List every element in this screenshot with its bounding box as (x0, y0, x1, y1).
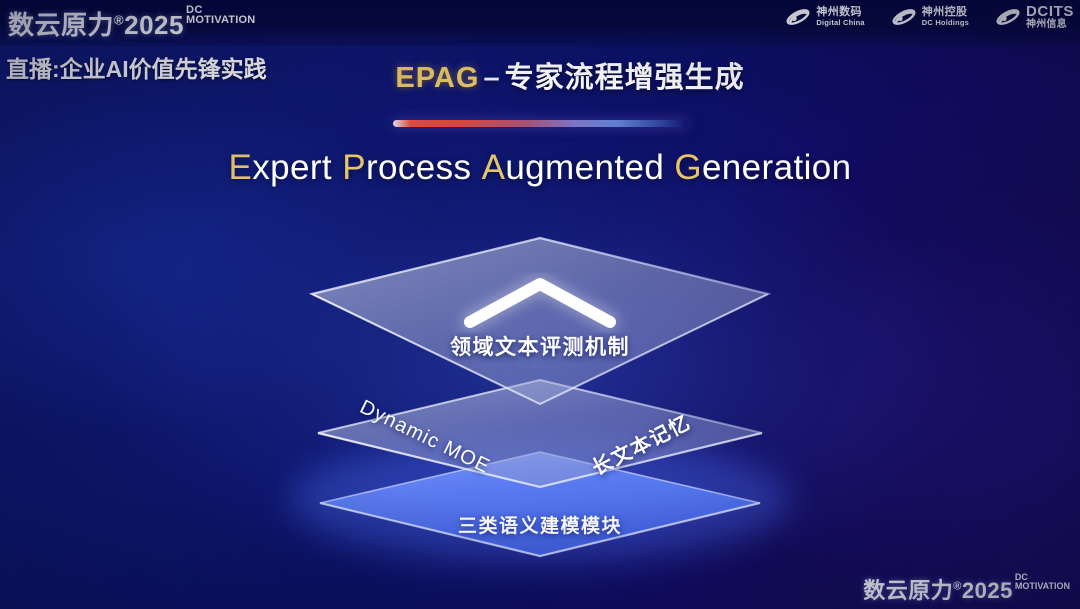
footer-logo-text: 数云原力®2025 (863, 573, 1013, 605)
footer-logo-year: 2025 (962, 578, 1013, 603)
footer-logo-sub-line2: MOTIVATION (1015, 582, 1070, 591)
footer-logo-name: 数云原力 (863, 578, 953, 603)
brand-logo-footer: 数云原力®2025 DC MOTIVATION (863, 573, 1070, 605)
footer-logo-registered: ® (953, 581, 962, 593)
footer-logo-sub: DC MOTIVATION (1015, 573, 1070, 590)
stack-layer-top (312, 238, 768, 404)
isometric-layer-stack: 领域文本评测机制 Dynamic MOE 长文本记忆 三类语义建模模块 (0, 0, 1080, 609)
slide-canvas: 数云原力®2025 DC MOTIVATION 直播:企业AI价值先锋实践 神州… (0, 0, 1080, 609)
